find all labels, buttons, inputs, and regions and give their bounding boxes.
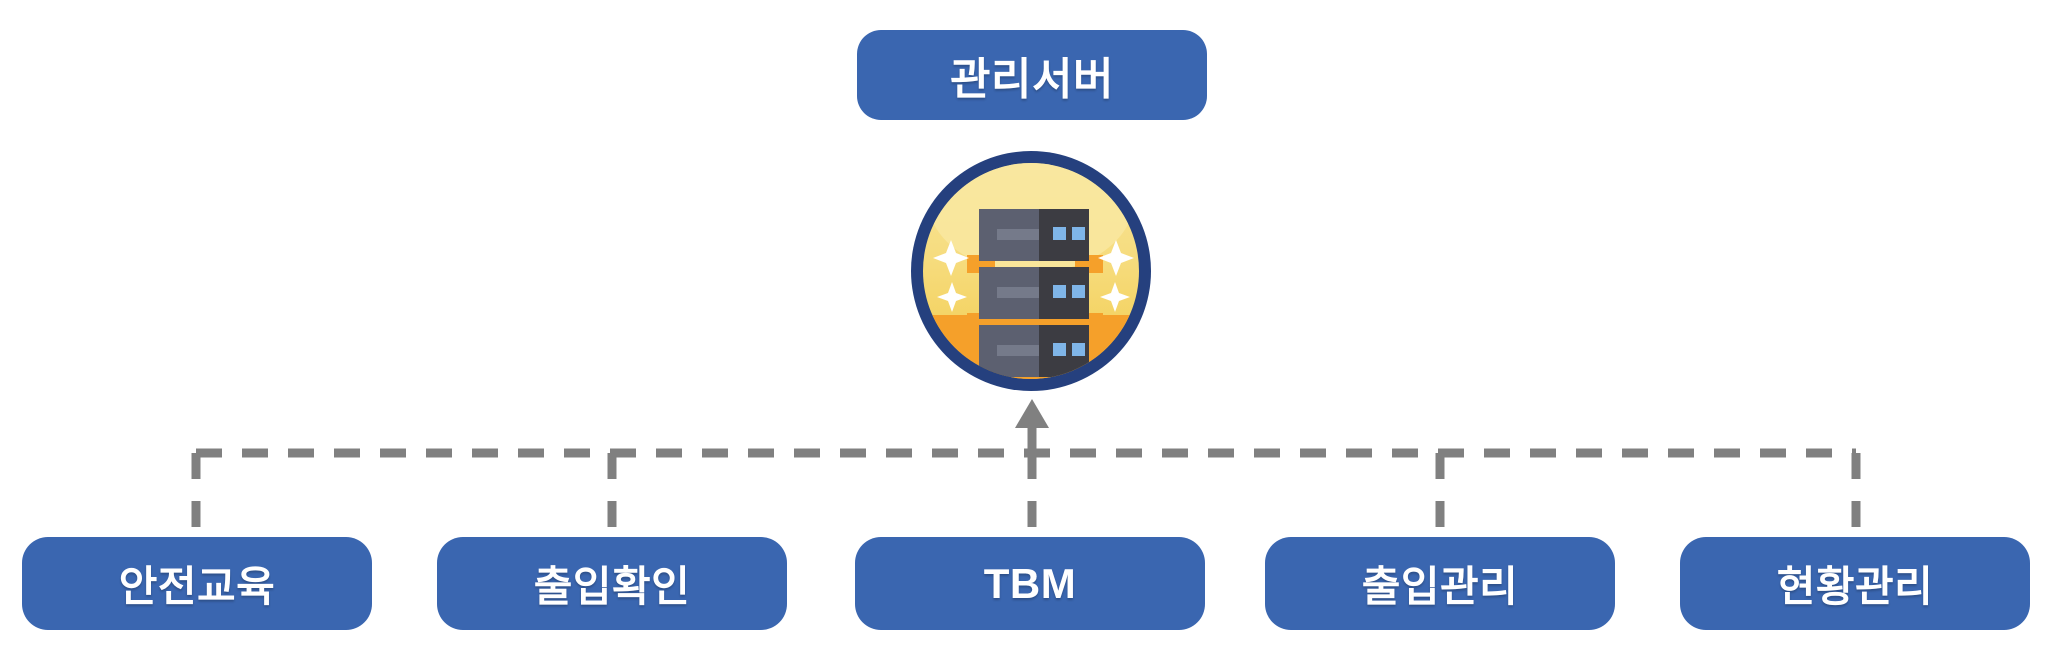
diagram-canvas: 관리서버 (0, 0, 2048, 648)
node-leaf-label: 출입확인 (534, 553, 691, 614)
node-leaf-status-management[interactable]: 현황관리 (1680, 537, 2030, 630)
rack-unit-2-led-a (1053, 285, 1066, 298)
rack-unit-3-slot (997, 345, 1039, 356)
rack-unit-2-led-b (1072, 285, 1085, 298)
rack-unit-2-slot (997, 287, 1039, 298)
rack-unit-1-led-b (1072, 227, 1085, 240)
node-leaf-entry-confirmation[interactable]: 출입확인 (437, 537, 787, 630)
node-leaf-label: 안전교육 (119, 553, 276, 614)
node-leaf-tbm[interactable]: TBM (855, 537, 1205, 630)
up-arrow-icon (1015, 399, 1049, 428)
node-leaf-safety-education[interactable]: 안전교육 (22, 537, 372, 630)
rack-unit-1-led-a (1053, 227, 1066, 240)
node-leaf-entry-management[interactable]: 출입관리 (1265, 537, 1615, 630)
rack-unit-1-slot (997, 229, 1039, 240)
node-leaf-label: 출입관리 (1362, 553, 1519, 614)
node-leaf-label: TBM (984, 560, 1076, 608)
node-root-management-server[interactable]: 관리서버 (857, 30, 1207, 120)
server-rack-icon (905, 145, 1157, 397)
node-leaf-label: 현황관리 (1777, 553, 1934, 614)
node-root-label: 관리서버 (950, 43, 1114, 107)
rack-unit-3-led-a (1053, 343, 1066, 356)
rack-unit-3-led-b (1072, 343, 1085, 356)
